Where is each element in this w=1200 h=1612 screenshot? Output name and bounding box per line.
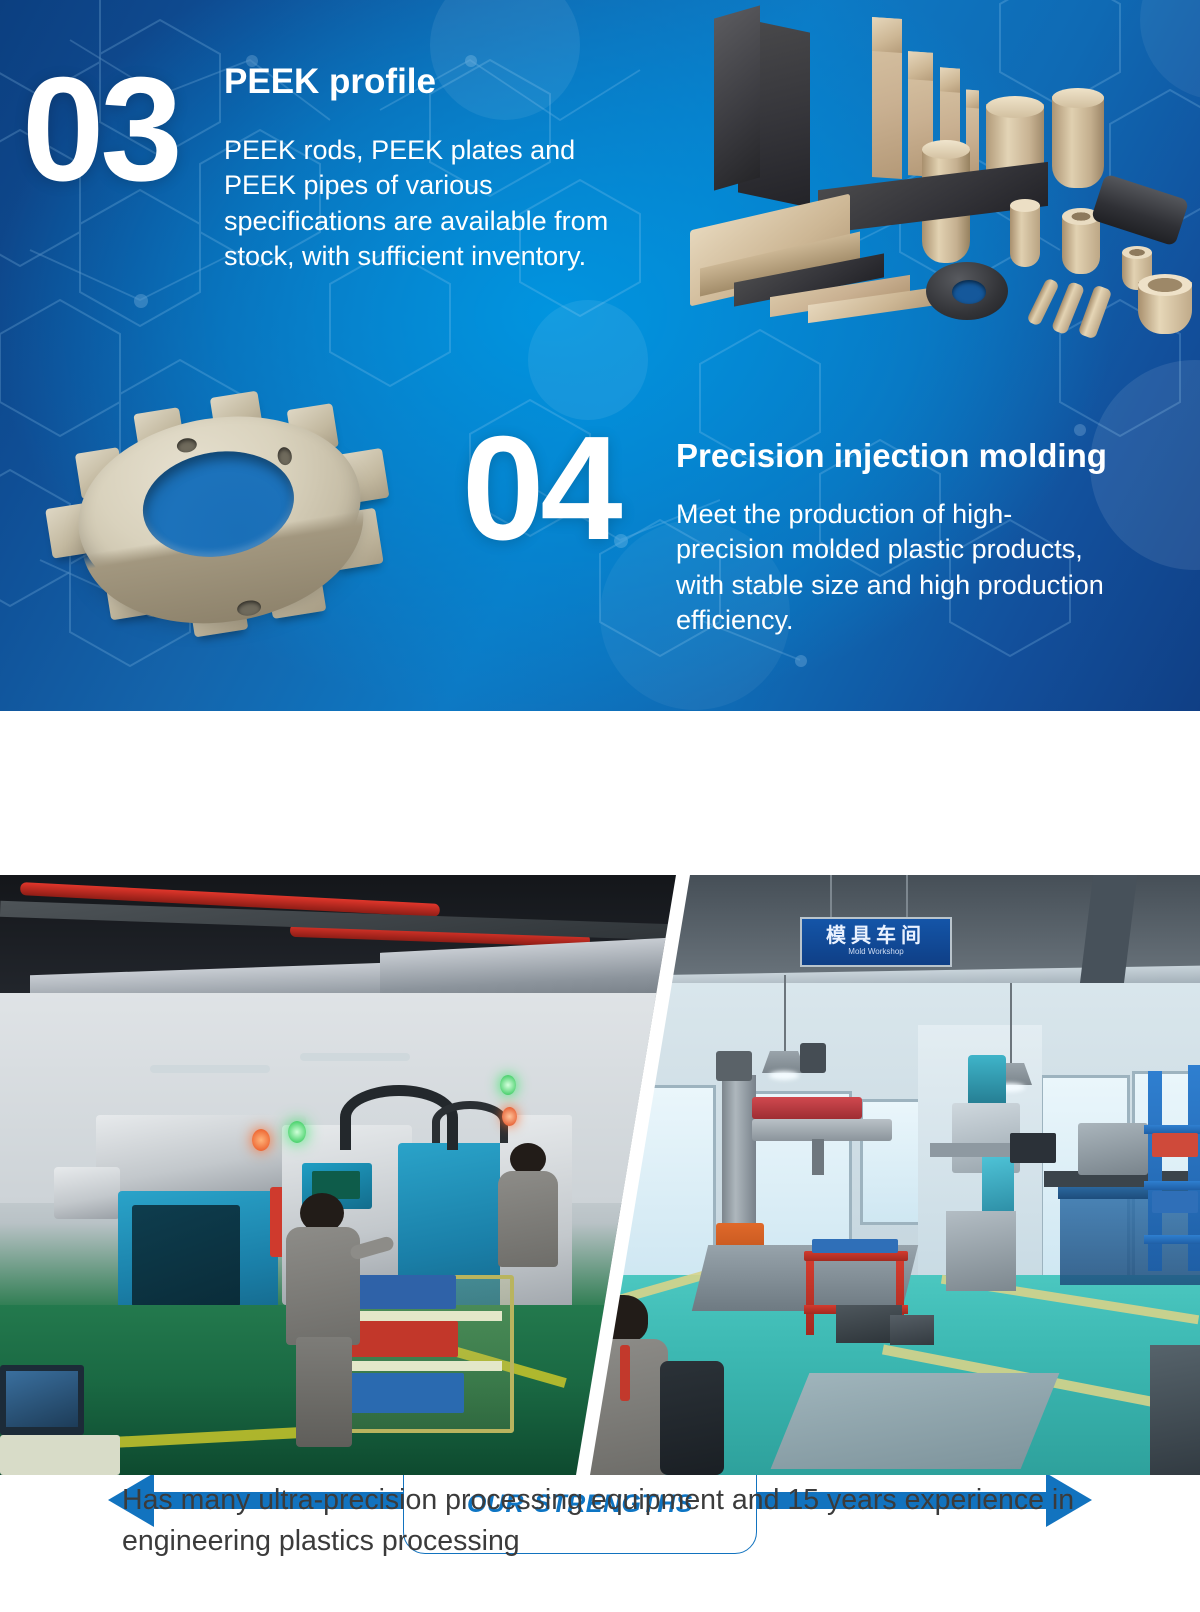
status-light-green [288,1121,306,1143]
status-light-red [252,1129,270,1151]
status-light-green-2 [500,1075,516,1095]
block-number-04: 04 [462,421,619,557]
workshop-photos: 模具车间 Mold Workshop [0,875,1200,1475]
strengths-banner: Our strengths [0,711,1200,875]
block-body-precision-injection-molding: Meet the production of high-precision mo… [676,497,1104,638]
bottom-caption: Has many ultra-precision processing equi… [0,1480,1200,1563]
hero-section: 03 PEEK profile PEEK rods, PEEK plates a… [0,0,1200,711]
status-light-red-2 [502,1107,517,1126]
mold-workshop-sign: 模具车间 Mold Workshop [800,917,952,967]
block-number-03: 03 [22,62,179,198]
page-root: 03 PEEK profile PEEK rods, PEEK plates a… [0,0,1200,1612]
sign-text-cn: 模具车间 [826,926,926,946]
block-body-peek-profile: PEEK rods, PEEK plates and PEEK pipes of… [224,133,648,274]
decor-circle-2 [528,300,648,420]
peek-gear-ring-image [40,378,400,650]
sign-text-en: Mold Workshop [848,946,903,959]
block-title-peek-profile: PEEK profile [224,62,436,102]
peek-products-image [690,0,1200,345]
cnc-workshop-photo [0,875,680,1475]
block-title-precision-injection-molding: Precision injection molding [676,437,1107,475]
